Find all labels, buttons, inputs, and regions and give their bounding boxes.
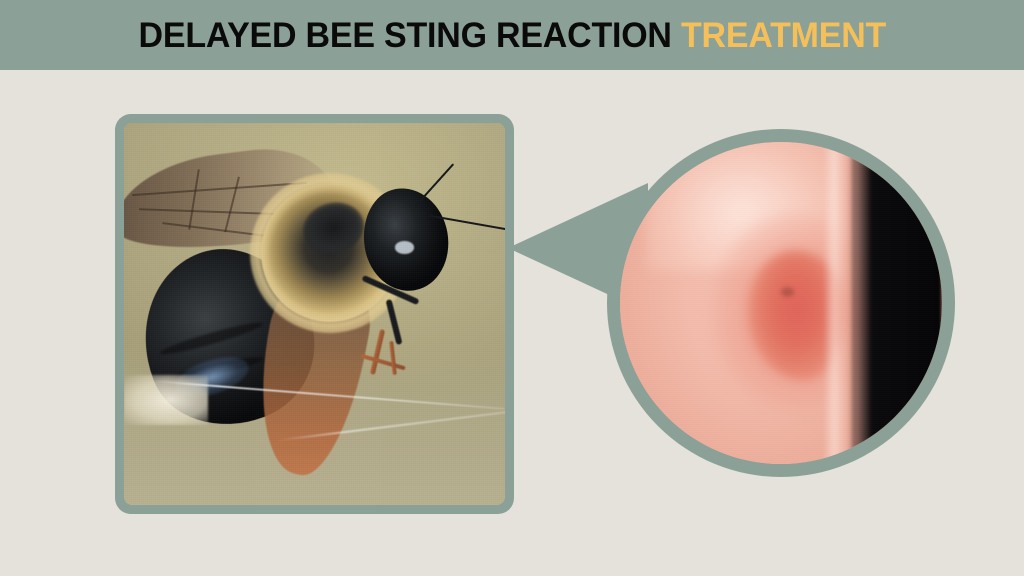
bee-head-highlight	[395, 241, 414, 253]
sting-reaction-photo	[620, 142, 942, 464]
bee-photo	[124, 123, 505, 505]
bee-photo-frame	[115, 114, 514, 514]
magnifier-circle-frame	[607, 129, 955, 477]
infographic-page: DELAYED BEE STING REACTION TREATMENT	[0, 0, 1024, 576]
limb-edge	[823, 142, 855, 464]
magnifier-callout	[508, 128, 953, 488]
page-title: DELAYED BEE STING REACTION TREATMENT	[138, 18, 886, 53]
photo-dark-background	[852, 142, 942, 464]
header-bar: DELAYED BEE STING REACTION TREATMENT	[0, 0, 1024, 70]
page-title-accent: TREATMENT	[681, 16, 886, 55]
sting-puncture-point	[781, 287, 794, 297]
page-title-main: DELAYED BEE STING REACTION	[138, 16, 671, 55]
